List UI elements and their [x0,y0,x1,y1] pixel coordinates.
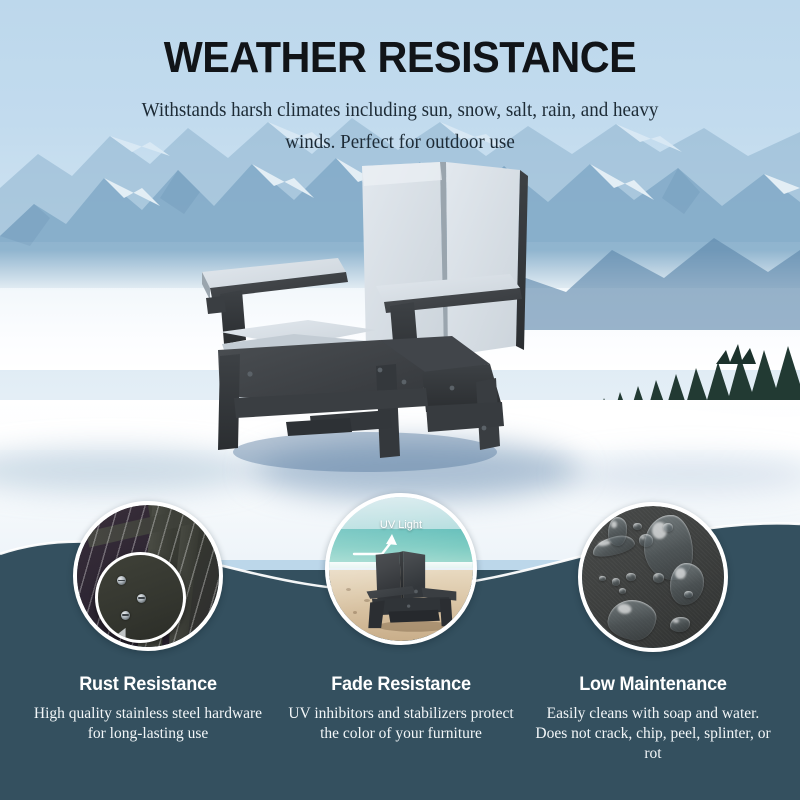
feature-thumb-low-maintenance [578,502,728,652]
feature-heading: Low Maintenance [536,674,770,696]
screw-magnifier-inset [95,552,186,643]
water-droplet [653,573,664,583]
feature-heading: Fade Resistance [284,674,518,696]
mini-chair-on-beach [361,545,462,634]
water-droplet [633,523,642,530]
feature-thumb-rust-resistance [73,501,223,651]
feature-low-maintenance: Low Maintenance Easily cleans with soap … [530,674,776,764]
feature-fade-resistance: Fade Resistance UV inhibitors and stabil… [278,674,524,744]
feature-thumb-fade-resistance: UV Light [325,493,477,645]
water-droplet [619,588,626,594]
stainless-screw-2 [137,594,146,603]
page-title: WEATHER RESISTANCE [24,34,776,82]
water-droplet [663,523,673,532]
weather-resistance-infographic: WEATHER RESISTANCE Withstands harsh clim… [0,0,800,800]
feature-body: High quality stainless steel hardware fo… [25,704,271,744]
water-droplet [626,573,636,582]
feature-heading: Rust Resistance [31,674,265,696]
feature-body: Easily cleans with soap and water. Does … [530,704,776,764]
uv-light-label: UV Light [329,519,473,531]
feature-body: UV inhibitors and stabilizers protect th… [278,704,524,744]
water-droplet [639,534,653,547]
adirondack-chair-product [190,160,530,480]
sand-speck [346,588,351,591]
water-droplet [612,578,621,585]
page-subtitle: Withstands harsh climates including sun,… [134,94,666,158]
feature-rust-resistance: Rust Resistance High quality stainless s… [25,674,271,744]
stainless-screw-3 [121,611,130,620]
stainless-screw-1 [117,576,126,585]
sand-speck [341,621,348,624]
